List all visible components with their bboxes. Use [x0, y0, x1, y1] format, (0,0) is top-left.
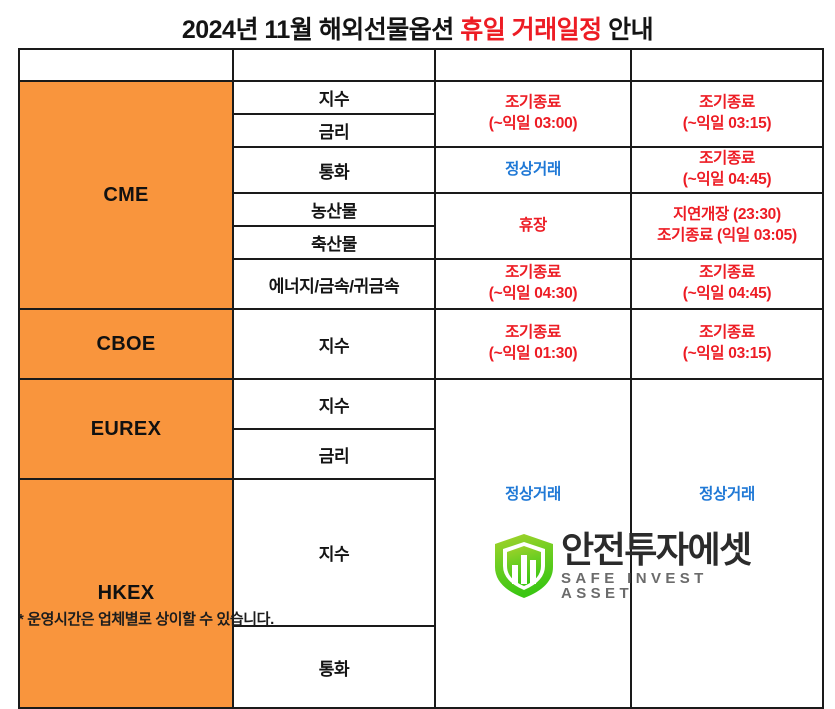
value-line-2: (~익일 04:30) — [436, 284, 630, 305]
value-line-2: (~익일 03:15) — [632, 344, 822, 365]
value-merged-normal-1129: 정상거래 — [631, 379, 823, 708]
value-cme-currency-1128: 정상거래 — [435, 147, 631, 193]
value-cme-index-rates-1128: 조기종료 (~익일 03:00) — [435, 81, 631, 147]
value-cboe-index-1128: 조기종료 (~익일 01:30) — [435, 309, 631, 379]
value-line-1: 지연개장 (23:30) — [673, 206, 781, 223]
page-title-accent: 휴일 거래일정 — [460, 16, 601, 44]
header-category: 상품구분 — [233, 49, 435, 81]
category-cell-cboe-index: 지수 — [233, 309, 435, 379]
exchange-cell-hkex: HKEX — [19, 479, 233, 708]
category-cell-eurex-index: 지수 — [233, 379, 435, 429]
table-row: CBOE 지수 조기종료 (~익일 01:30) 조기종료 (~익일 03:15… — [19, 309, 823, 379]
value-line-2: (~익일 03:00) — [436, 114, 630, 135]
header-date-1128: 2024.11.28(목) — [435, 49, 631, 81]
value-cme-index-rates-1129: 조기종료 (~익일 03:15) — [631, 81, 823, 147]
category-cell-eurex-rates: 금리 — [233, 429, 435, 479]
value-cme-energy-1128: 조기종료 (~익일 04:30) — [435, 259, 631, 309]
value-cme-energy-1129: 조기종료 (~익일 04:45) — [631, 259, 823, 309]
value-line-1: 조기종료 — [505, 264, 561, 281]
category-cell-cme-livestock: 축산물 — [233, 226, 435, 259]
category-cell-cme-index: 지수 — [233, 81, 435, 114]
category-cell-cme-currency: 통화 — [233, 147, 435, 193]
value-line-2: 조기종료 (익일 03:05) — [632, 226, 822, 247]
header-date-1129: 2024.11.29(금) — [631, 49, 823, 81]
category-cell-cme-rates: 금리 — [233, 114, 435, 147]
value-cboe-index-1129: 조기종료 (~익일 03:15) — [631, 309, 823, 379]
exchange-cell-cboe: CBOE — [19, 309, 233, 379]
page-title-suffix: 안내 — [602, 16, 653, 44]
value-line-1: 조기종료 — [505, 94, 561, 111]
category-cell-hkex-currency: 통화 — [233, 626, 435, 708]
category-cell-cme-energy-metal: 에너지/금속/귀금속 — [233, 259, 435, 309]
value-line-1: 조기종료 — [699, 264, 755, 281]
table-row: EUREX 지수 정상거래 정상거래 — [19, 379, 823, 429]
page-title-prefix: 2024년 11월 해외선물옵션 — [182, 16, 460, 44]
value-line-1: 조기종료 — [699, 94, 755, 111]
category-cell-hkex-index: 지수 — [233, 479, 435, 626]
exchange-cell-eurex: EUREX — [19, 379, 233, 479]
table-header-row: 거래소 상품구분 2024.11.28(목) 2024.11.29(금) — [19, 49, 823, 81]
value-cme-currency-1129: 조기종료 (~익일 04:45) — [631, 147, 823, 193]
value-line-2: (~익일 01:30) — [436, 344, 630, 365]
value-merged-normal-1128: 정상거래 — [435, 379, 631, 708]
value-line-1: 조기종료 — [699, 324, 755, 341]
value-line-2: (~익일 04:45) — [632, 170, 822, 191]
value-line-1: 조기종료 — [505, 324, 561, 341]
table-row: CME 지수 조기종료 (~익일 03:00) 조기종료 (~익일 03:15) — [19, 81, 823, 114]
value-cme-agri-livestock-1129: 지연개장 (23:30) 조기종료 (익일 03:05) — [631, 193, 823, 259]
value-line-1: 조기종료 — [699, 150, 755, 167]
category-cell-cme-agriculture: 농산물 — [233, 193, 435, 226]
header-exchange: 거래소 — [19, 49, 233, 81]
value-line-2: (~익일 03:15) — [632, 114, 822, 135]
page-title: 2024년 11월 해외선물옵션 휴일 거래일정 안내 — [0, 10, 835, 46]
footnote-text: * 운영시간은 업체별로 상이할 수 있습니다. — [18, 608, 274, 629]
exchange-cell-cme: CME — [19, 81, 233, 309]
value-cme-agri-livestock-1128: 휴장 — [435, 193, 631, 259]
value-line-2: (~익일 04:45) — [632, 284, 822, 305]
